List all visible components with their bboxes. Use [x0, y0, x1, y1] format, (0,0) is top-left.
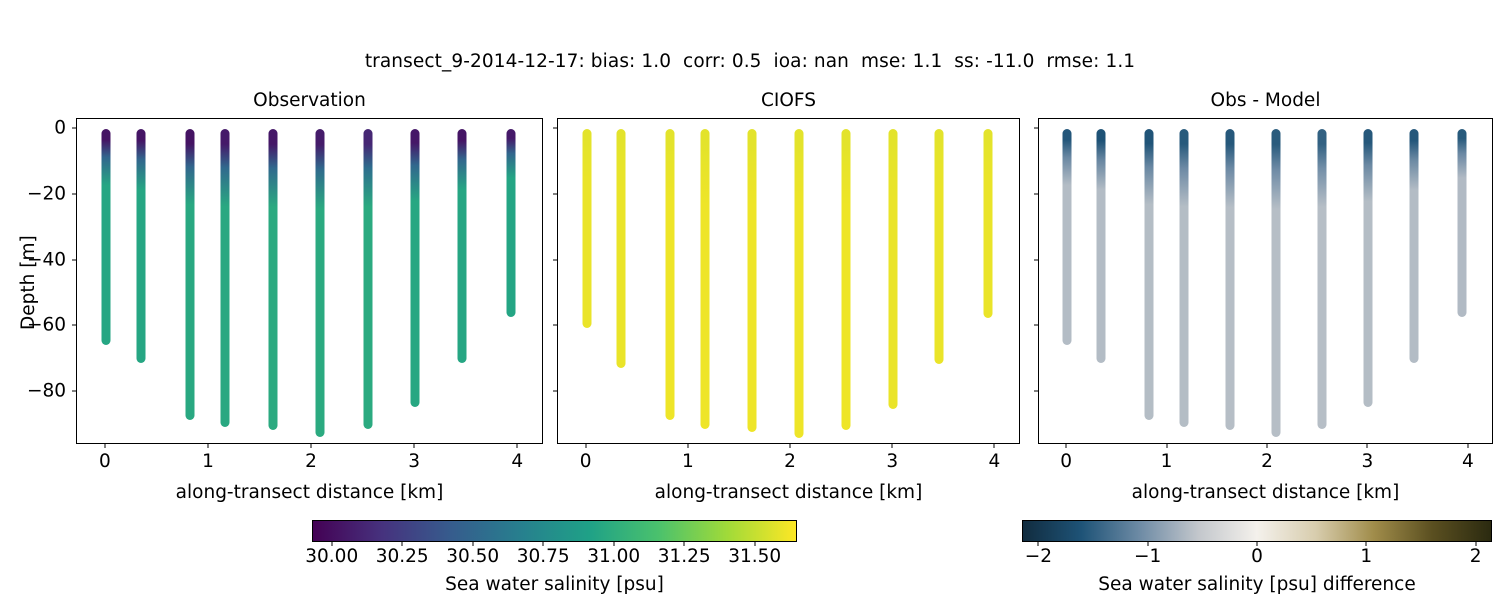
profile-column — [268, 129, 277, 430]
colorbar-gradient — [312, 520, 797, 542]
x-axis-tick — [517, 444, 518, 448]
profile-column — [316, 129, 325, 437]
y-axis-tick — [553, 325, 557, 326]
profile-column — [1097, 129, 1106, 363]
profile-column — [1457, 129, 1466, 317]
colorbar-tick-label: 31.25 — [658, 546, 711, 567]
colorbar-tick-label: 31.00 — [587, 546, 640, 567]
plot-area — [77, 119, 542, 443]
x-axis-tick — [687, 444, 688, 448]
x-axis-tick — [1267, 444, 1268, 448]
profile-column — [889, 129, 898, 409]
y-axis-tick — [1034, 391, 1038, 392]
y-axis-tick — [72, 325, 76, 326]
colorbar-tick-label: 2 — [1470, 546, 1482, 567]
x-axis-tick — [790, 444, 791, 448]
profile-column — [795, 129, 804, 439]
profile-column — [363, 129, 372, 429]
y-axis-tick-label: 0 — [54, 117, 66, 138]
y-axis-label: Depth [m] — [18, 235, 39, 330]
x-axis-tick-label: 2 — [1261, 451, 1273, 472]
profile-column — [1145, 129, 1154, 420]
x-axis-tick — [1467, 444, 1468, 448]
y-axis-tick-label: −20 — [27, 183, 66, 204]
y-axis-tick — [72, 259, 76, 260]
y-axis-tick — [553, 391, 557, 392]
profile-column — [1364, 129, 1373, 407]
x-axis-tick — [585, 444, 586, 448]
plot-area — [558, 119, 1019, 443]
y-axis-tick — [553, 127, 557, 128]
x-axis-tick-label: 1 — [1161, 451, 1173, 472]
x-axis-tick-label: 0 — [99, 451, 111, 472]
x-axis-tick — [1367, 444, 1368, 448]
profile-column — [1272, 129, 1281, 437]
profile-column — [935, 129, 944, 364]
profile-column — [221, 129, 230, 427]
profile-column — [1409, 129, 1418, 363]
panel-obs-model: Obs - Model01234along-transect distance … — [1038, 118, 1493, 444]
x-axis-tick-label: 0 — [1060, 451, 1072, 472]
x-axis-tick-label: 3 — [408, 451, 420, 472]
colorbar-tick-label: 0 — [1251, 546, 1263, 567]
plot-area — [1039, 119, 1492, 443]
profile-column — [136, 129, 145, 363]
x-axis-label: along-transect distance [km] — [1038, 482, 1493, 503]
profile-column — [617, 129, 626, 368]
y-axis-tick — [72, 193, 76, 194]
colorbar-tick-label: 31.50 — [728, 546, 781, 567]
x-axis-tick — [1066, 444, 1067, 448]
suptitle-line-1: transect_9-2014-12-17: bias: 1.0 corr: 0… — [0, 50, 1500, 73]
panel-title: Observation — [76, 90, 543, 111]
y-axis-tick — [72, 127, 76, 128]
panel-title: Obs - Model — [1038, 90, 1493, 111]
profile-column — [411, 129, 420, 407]
colorbar-label: Sea water salinity [psu] difference — [1022, 574, 1492, 595]
x-axis-tick — [104, 444, 105, 448]
x-axis-tick — [892, 444, 893, 448]
profile-column — [186, 129, 195, 420]
y-axis-tick — [1034, 325, 1038, 326]
profile-column — [701, 129, 710, 429]
colorbar-tick-label: −1 — [1134, 546, 1161, 567]
x-axis-tick-label: 3 — [886, 451, 898, 472]
profile-column — [1063, 129, 1072, 345]
profile-column — [1225, 129, 1234, 430]
x-axis-tick-label: 1 — [682, 451, 694, 472]
colorbar-tick-label: 30.50 — [446, 546, 499, 567]
profile-column — [457, 129, 466, 363]
colorbar-ticks: −2−1012 — [1022, 542, 1492, 562]
plot-axes — [1038, 118, 1493, 444]
y-axis-tick — [553, 259, 557, 260]
x-axis-tick-label: 4 — [989, 451, 1001, 472]
profile-column — [666, 129, 675, 420]
panel-ciofs: CIOFS01234along-transect distance [km] — [557, 118, 1020, 444]
figure-canvas: transect_9-2014-12-17: bias: 1.0 corr: 0… — [0, 0, 1500, 600]
colorbar-tick-label: 1 — [1360, 546, 1372, 567]
x-axis-label: along-transect distance [km] — [557, 482, 1020, 503]
panel-observation: Observation01234along-transect distance … — [76, 118, 543, 444]
colorbar-label: Sea water salinity [psu] — [312, 574, 797, 595]
x-axis-tick — [311, 444, 312, 448]
y-axis-tick — [1034, 259, 1038, 260]
profile-column — [507, 129, 516, 317]
profile-column — [582, 129, 591, 328]
x-axis-tick-label: 2 — [305, 451, 317, 472]
x-axis-tick — [1166, 444, 1167, 448]
profile-column — [748, 129, 757, 432]
colorbar-tick-label: 30.00 — [305, 546, 358, 567]
x-axis-tick-label: 3 — [1362, 451, 1374, 472]
profile-column — [101, 129, 110, 345]
x-axis-tick — [414, 444, 415, 448]
y-axis-tick — [1034, 193, 1038, 194]
panel-title: CIOFS — [557, 90, 1020, 111]
x-axis-tick-label: 0 — [580, 451, 592, 472]
colorbar-ticks: 30.0030.2530.5030.7531.0031.2531.50 — [312, 542, 797, 562]
x-axis-label: along-transect distance [km] — [76, 482, 543, 503]
x-axis-tick-label: 4 — [1462, 451, 1474, 472]
y-axis-tick — [72, 391, 76, 392]
x-axis-tick-label: 4 — [511, 451, 523, 472]
colorbar-gradient — [1022, 520, 1492, 542]
profile-column — [842, 129, 851, 430]
y-axis-tick — [553, 193, 557, 194]
x-axis-tick-label: 2 — [784, 451, 796, 472]
profile-column — [984, 129, 993, 318]
profile-column — [1318, 129, 1327, 429]
colorbar-tick-label: −2 — [1025, 546, 1052, 567]
y-axis-tick — [1034, 127, 1038, 128]
x-axis-tick-label: 1 — [202, 451, 214, 472]
colorbar-tick-label: 30.25 — [376, 546, 429, 567]
plot-axes — [557, 118, 1020, 444]
x-axis-tick — [207, 444, 208, 448]
plot-axes — [76, 118, 543, 444]
profile-column — [1179, 129, 1188, 427]
colorbar-tick-label: 30.75 — [517, 546, 570, 567]
y-axis-tick-label: −80 — [27, 381, 66, 402]
x-axis-tick — [994, 444, 995, 448]
